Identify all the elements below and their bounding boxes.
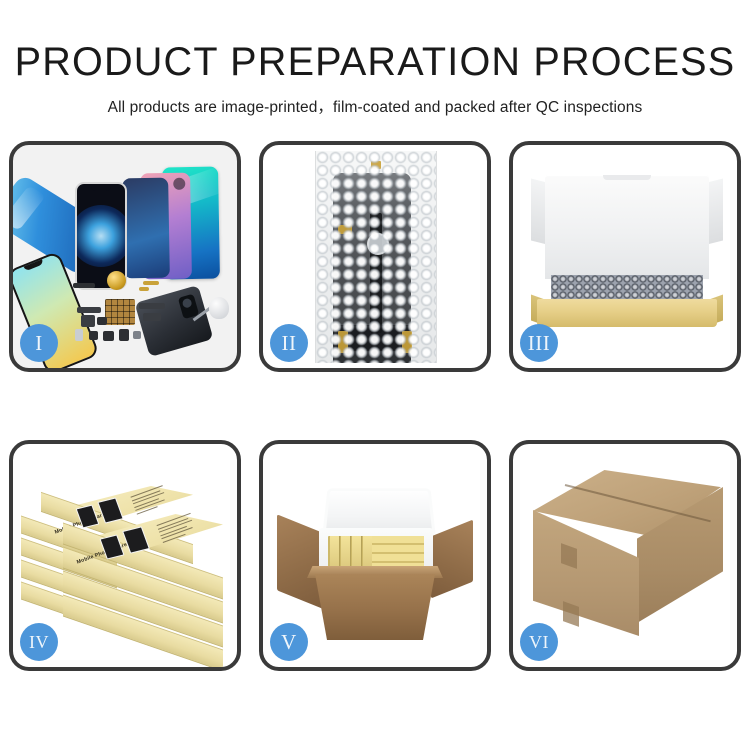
step-badge-3: III	[520, 324, 558, 362]
step-3-panel[interactable]: III	[509, 141, 741, 372]
step-5-panel[interactable]: V	[259, 440, 491, 671]
process-row-top: I	[0, 141, 750, 372]
navy-phone-icon	[122, 178, 170, 279]
white-mailer-box-icon	[531, 175, 723, 330]
step-4-panel[interactable]: Mobile Phone Spare Parts	[9, 440, 241, 671]
step-badge-5: V	[270, 623, 308, 661]
carton-flap-right	[431, 520, 473, 599]
chip-grid-icon	[105, 299, 135, 325]
product-preparation-infographic: PRODUCT PREPARATION PROCESS All products…	[0, 0, 750, 750]
process-steps-grid: I	[0, 141, 750, 671]
open-carton-icon	[277, 470, 473, 644]
carton-body	[315, 574, 435, 640]
step-badge-4: IV	[20, 623, 58, 661]
process-step-6: VI	[500, 440, 750, 671]
step-1-panel[interactable]: I	[9, 141, 241, 372]
spare-parts-cluster	[73, 273, 183, 351]
process-step-4: Mobile Phone Spare Parts	[0, 440, 250, 671]
retail-box-stack-icon: Mobile Phone Spare Parts	[21, 466, 237, 656]
tweezers-icon	[191, 291, 231, 331]
sealed-shipping-carton-icon	[529, 470, 725, 646]
bubble-wrap-bag-icon	[315, 151, 437, 363]
carton-flap-left	[277, 514, 325, 609]
page-subtitle: All products are image-printed，film-coat…	[0, 82, 750, 117]
header: PRODUCT PREPARATION PROCESS All products…	[0, 0, 750, 117]
step-badge-2: II	[270, 324, 308, 362]
speaker-part-icon	[107, 271, 126, 290]
process-step-1: I	[0, 141, 250, 372]
step-6-panel[interactable]: VI	[509, 440, 741, 671]
step-2-panel[interactable]: II	[259, 141, 491, 372]
bubble-cushion-fill	[551, 275, 703, 301]
process-step-3: III	[500, 141, 750, 372]
page-title: PRODUCT PREPARATION PROCESS	[4, 0, 747, 82]
process-row-bottom: Mobile Phone Spare Parts	[0, 440, 750, 671]
step-badge-6: VI	[520, 623, 558, 661]
process-step-5: V	[250, 440, 500, 671]
step-badge-1: I	[20, 324, 58, 362]
process-step-2: II	[250, 141, 500, 372]
